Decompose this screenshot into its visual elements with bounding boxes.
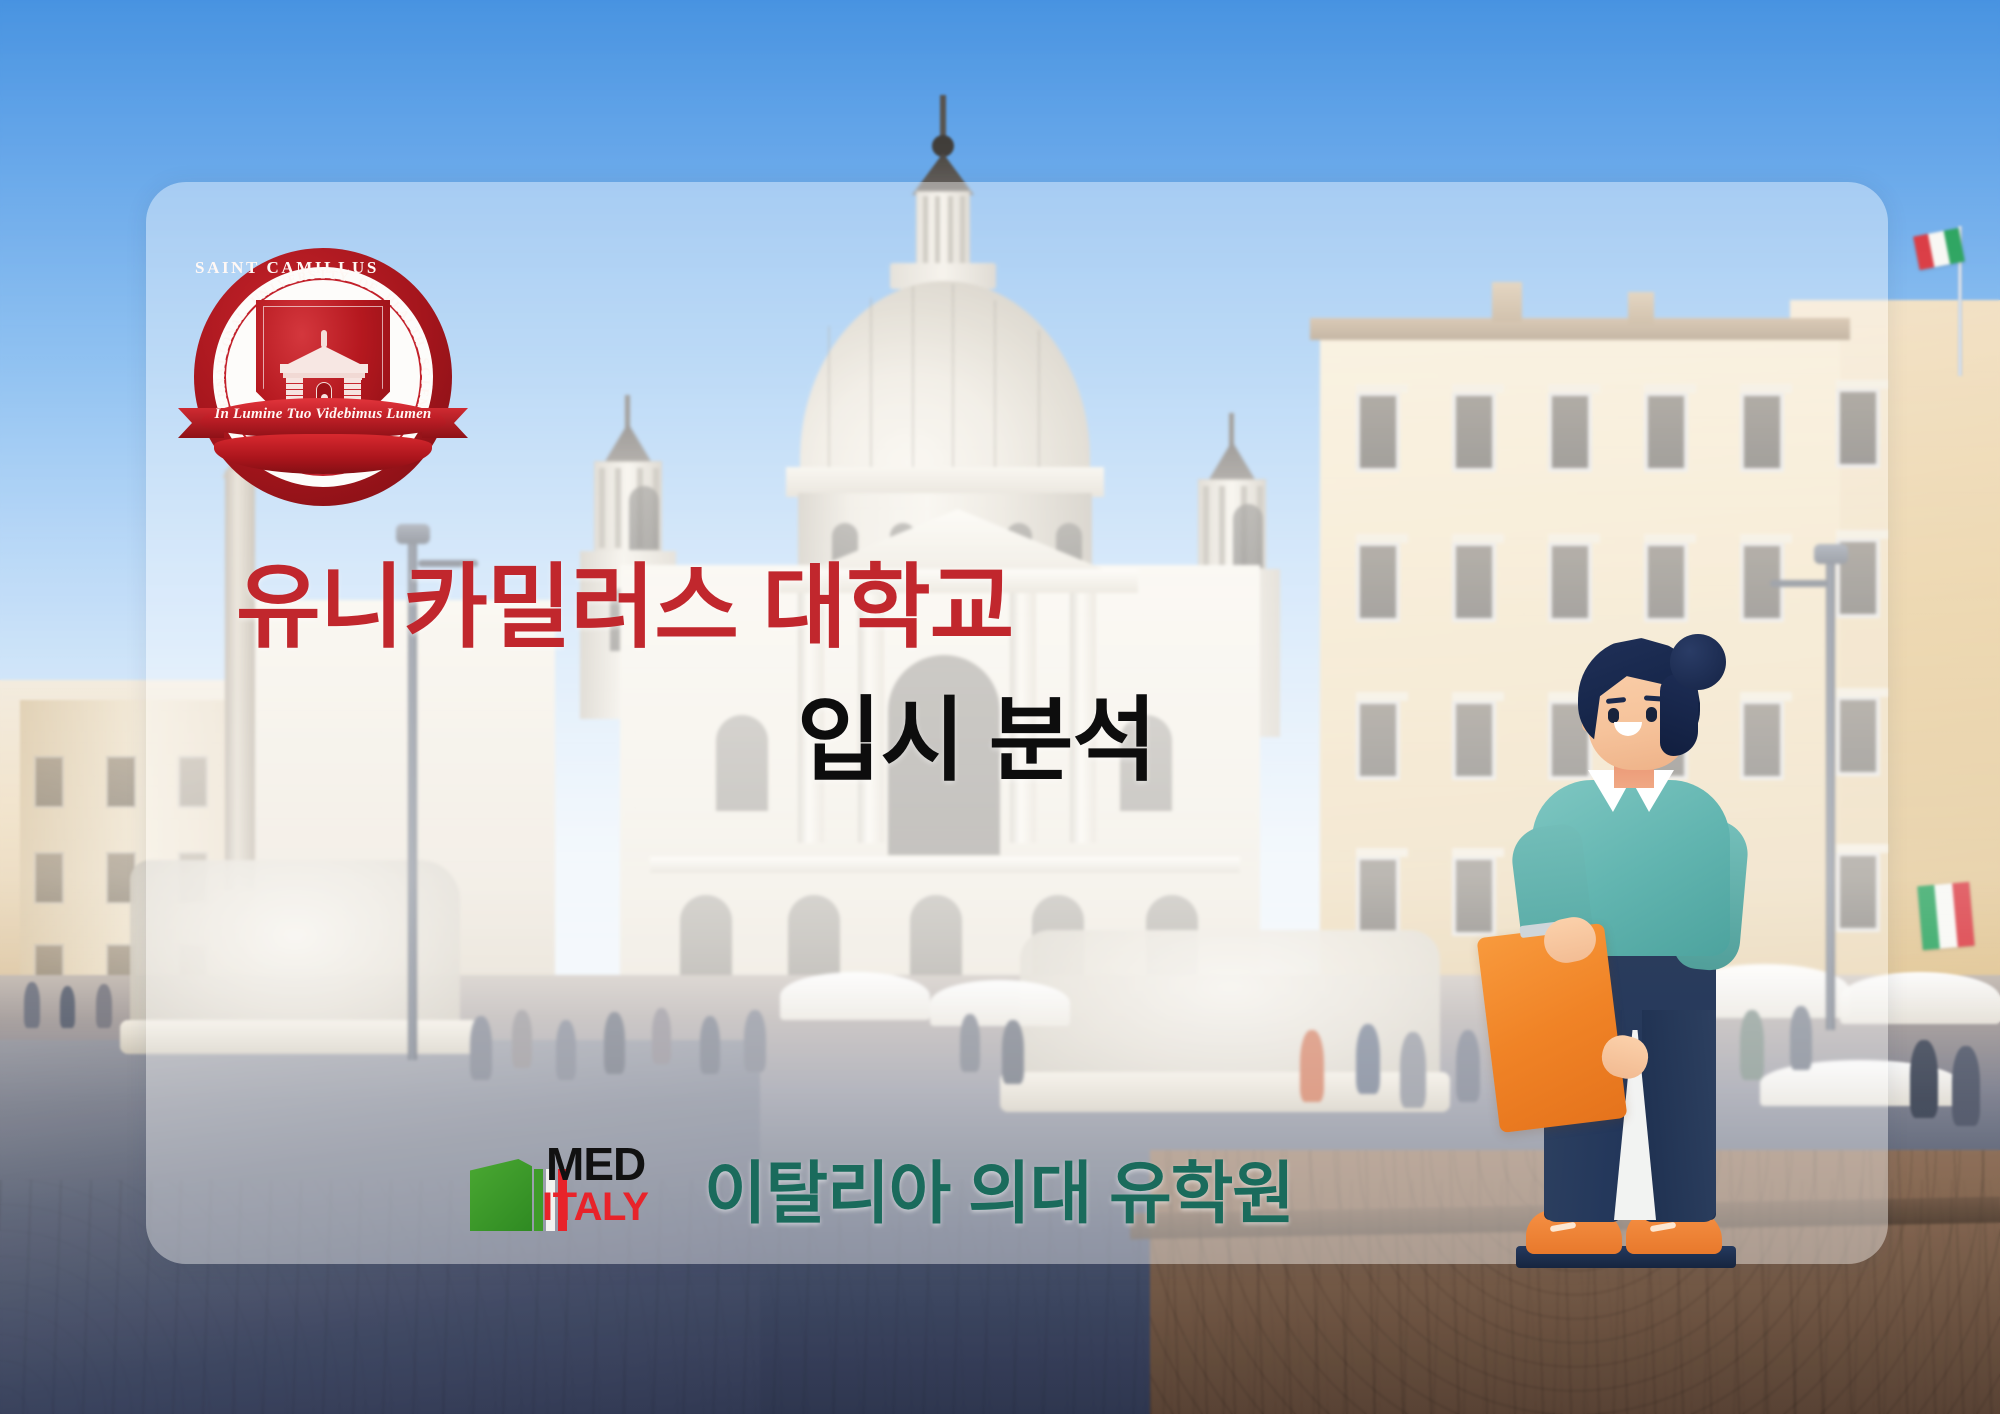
eye-left xyxy=(1608,708,1619,723)
headline-secondary: 입시 분석 xyxy=(146,693,1396,790)
seal-arc-char: N xyxy=(213,377,228,387)
seal-arc-char: I xyxy=(216,347,232,356)
illustration-woman-with-clipboard xyxy=(1510,630,1760,1270)
seal-arc-char: C xyxy=(417,367,432,377)
poster-canvas: INTERNATIONAL UNIVERSITY OF HEALTH SCIEN… xyxy=(0,0,2000,1414)
logo-text-italy: ITALY xyxy=(542,1187,648,1227)
headline-block: 유니카밀러스 대학교 입시 분석 xyxy=(146,560,1396,789)
seal-institution-text: SAINT CAMILLUS xyxy=(178,258,396,278)
footer-brand: MED ITALY 이탈리아 의대 유학원 xyxy=(470,1135,1294,1239)
footer-tagline: 이탈리아 의대 유학원 xyxy=(704,1138,1294,1237)
university-seal: INTERNATIONAL UNIVERSITY OF HEALTH SCIEN… xyxy=(178,248,468,478)
building-icon xyxy=(470,1159,532,1231)
seal-arc-char: A xyxy=(213,367,228,377)
seal-arc-char xyxy=(414,348,429,355)
hair-bun xyxy=(1670,634,1726,690)
eye-right xyxy=(1646,707,1657,722)
seal-arc-char: T xyxy=(214,356,230,367)
seal-arc-char: S xyxy=(416,357,432,367)
meditaly-logo: MED ITALY xyxy=(470,1135,660,1239)
logo-text-med: MED xyxy=(546,1141,645,1187)
headline-primary: 유니카밀러스 대학교 xyxy=(146,560,1396,657)
seal-motto-text: In Lumine Tuo Videbimus Lumen xyxy=(178,406,468,423)
seal-arc-char: I xyxy=(417,379,432,385)
